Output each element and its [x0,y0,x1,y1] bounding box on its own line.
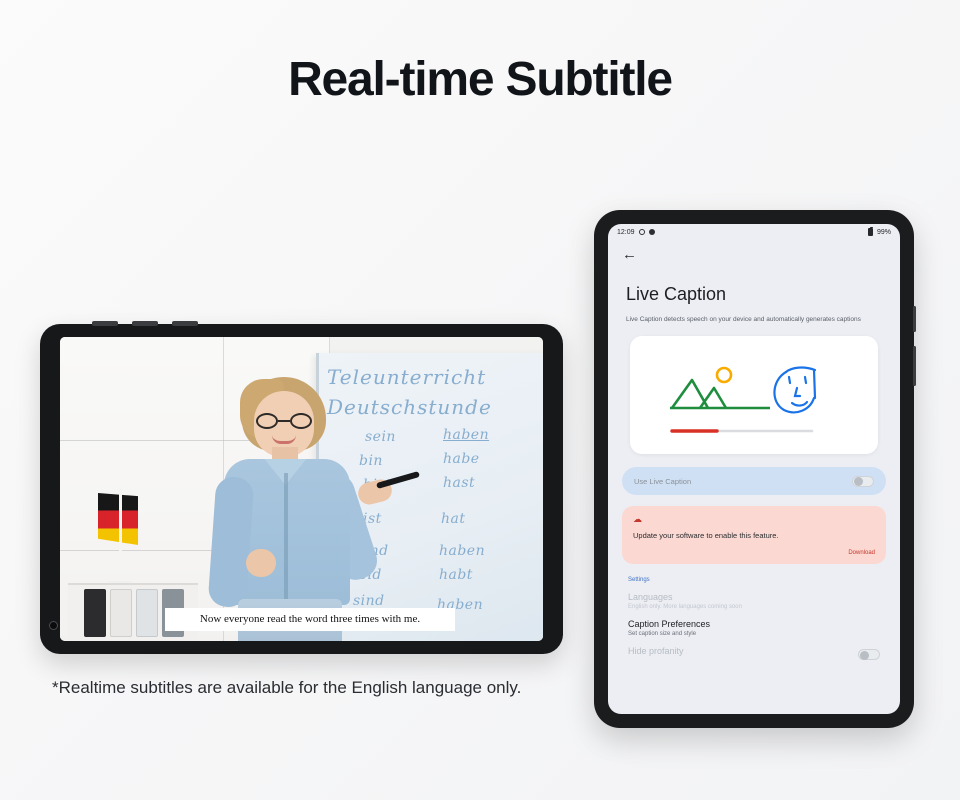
footnote-text: *Realtime subtitles are available for th… [52,678,521,698]
update-alert-message: Update your software to enable this feat… [633,531,875,540]
settings-row-title: Hide profanity [628,646,880,656]
right-tablet-device: 12:09 99% ← Live Caption Live Caption de… [594,210,914,728]
screen-description: Live Caption detects speech on your devi… [608,305,900,324]
notification-icon [649,229,655,235]
use-live-caption-row[interactable]: Use Live Caption [622,467,886,495]
mountain-icon [670,380,770,408]
status-bar: 12:09 99% [608,224,900,240]
settings-row-languages[interactable]: Languages English only. More languages c… [628,592,880,610]
settings-row-subtitle: Set caption size and style [628,631,880,637]
front-camera-icon [49,621,58,630]
whiteboard-word: habe [443,451,480,467]
subtitle-overlay: Now everyone read the word three times w… [165,608,455,631]
classroom-scene: Teleunterricht Deutschstunde sein bin bi… [60,337,543,641]
use-live-caption-label: Use Live Caption [634,477,691,486]
back-arrow-icon[interactable]: ← [622,246,637,263]
glasses-icon [256,413,312,429]
navigation-bar: ← [608,240,900,264]
hide-profanity-toggle[interactable] [858,649,880,660]
whiteboard-word: haben [443,427,489,443]
download-link[interactable]: Download [633,550,875,556]
cloud-download-icon: ☁ [633,515,875,524]
update-alert-card: ☁ Update your software to enable this fe… [622,506,886,564]
page-title: Real-time Subtitle [0,52,960,107]
sun-icon [717,368,731,382]
settings-row-hide-profanity[interactable]: Hide profanity [628,646,880,656]
settings-row-title: Caption Preferences [628,619,880,629]
whiteboard-word: hast [443,475,475,491]
settings-row-subtitle: English only. More languages coming soon [628,604,880,610]
tablet-top-buttons [92,321,198,326]
battery-percent: 99% [877,229,891,236]
settings-gear-icon [639,229,645,235]
settings-row-title: Languages [628,592,880,602]
status-time: 12:09 [617,229,635,236]
teacher-figure [190,373,405,641]
whiteboard-word: habt [439,567,473,583]
left-tablet-device: Teleunterricht Deutschstunde sein bin bi… [40,324,563,654]
german-flag [98,487,142,589]
volume-button[interactable] [913,306,916,332]
screen-title: Live Caption [608,264,900,305]
whiteboard-word: hat [441,511,466,527]
battery-icon [868,228,873,236]
use-live-caption-toggle[interactable] [852,476,874,487]
live-caption-illustration [630,336,878,454]
left-tablet-screen: Teleunterricht Deutschstunde sein bin bi… [60,337,543,641]
whiteboard-word: haben [439,543,485,559]
power-button[interactable] [913,346,916,386]
face-icon [774,368,815,413]
settings-section-header: Settings [628,577,900,583]
settings-row-caption-preferences[interactable]: Caption Preferences Set caption size and… [628,619,880,637]
right-tablet-screen: 12:09 99% ← Live Caption Live Caption de… [608,224,900,714]
